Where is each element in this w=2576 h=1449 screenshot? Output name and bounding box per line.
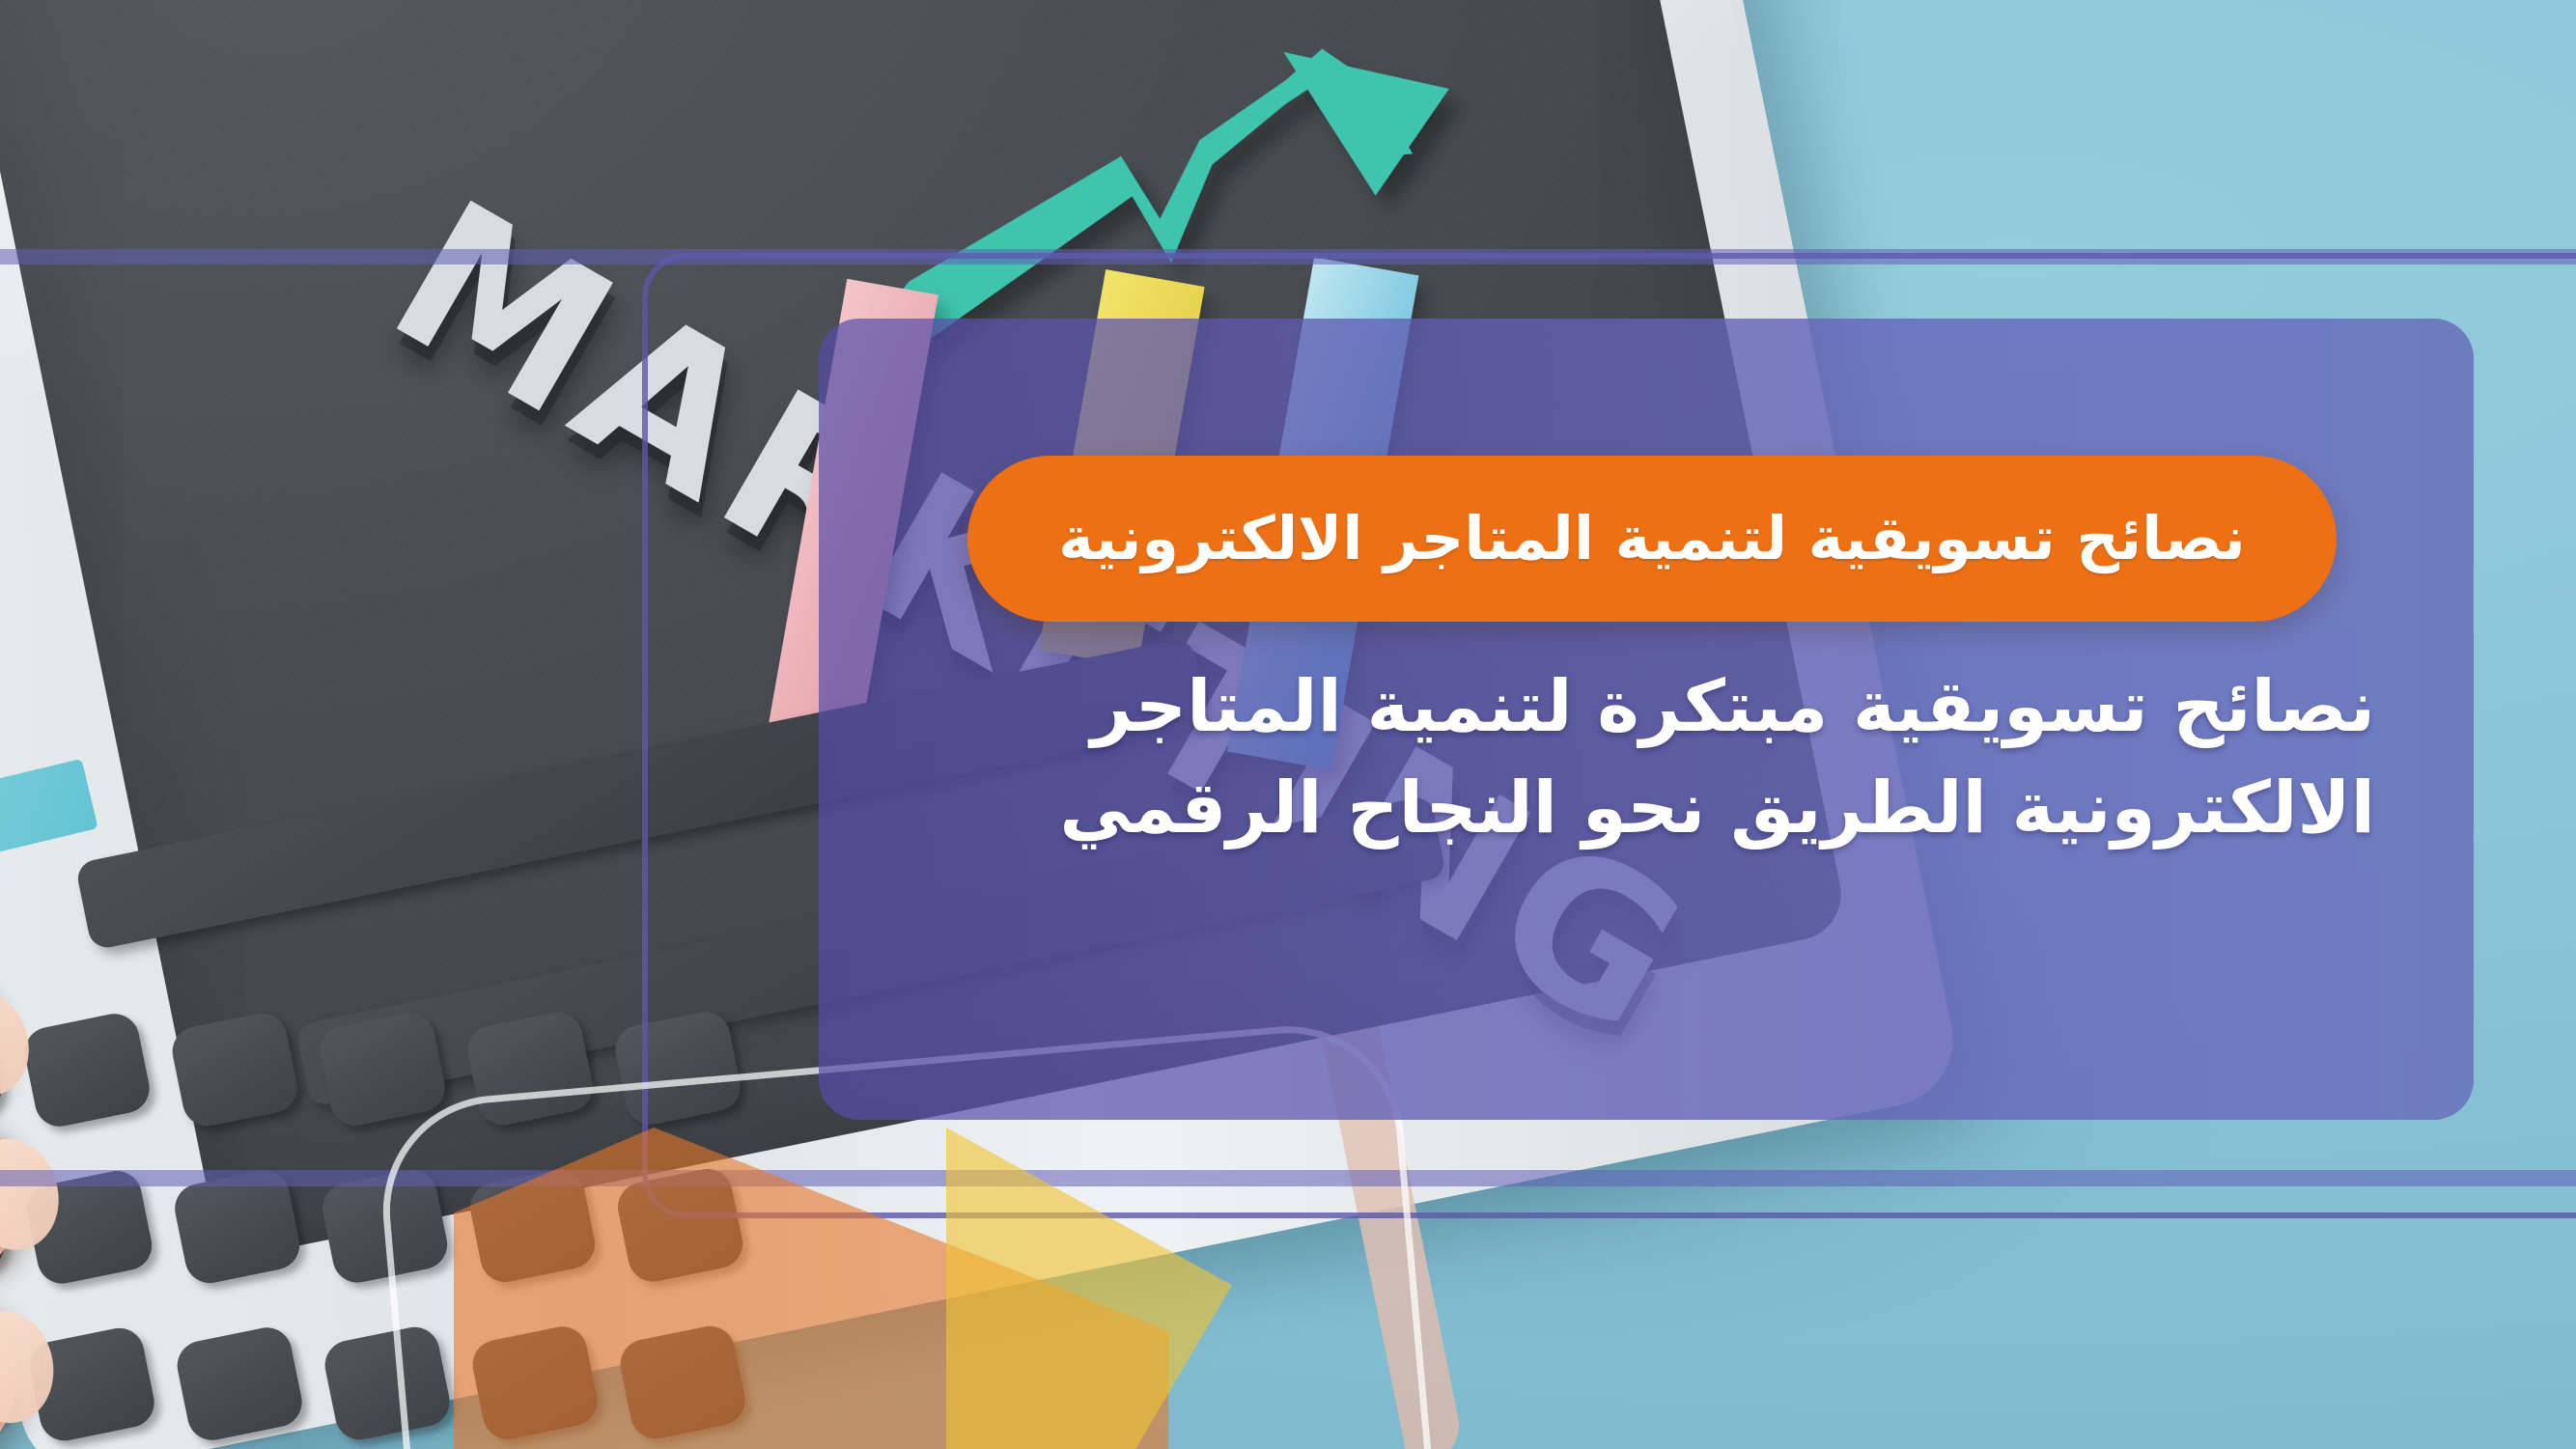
headline-pill-text: نصائح تسويقية لتنمية المتاجر الالكترونية [1020, 509, 2284, 569]
decorative-purple-band-top [0, 249, 2576, 265]
banner-canvas: MARKETING [0, 0, 2576, 1449]
body-copy: نصائح تسويقية مبتكرة لتنمية المتاجر الال… [850, 656, 2443, 859]
body-copy-line-2: الالكترونية الطريق نحو النجاح الرقمي [888, 758, 2375, 859]
body-copy-line-1: نصائح تسويقية مبتكرة لتنمية المتاجر [888, 656, 2375, 758]
headline-pill: نصائح تسويقية لتنمية المتاجر الالكترونية [967, 456, 2337, 622]
